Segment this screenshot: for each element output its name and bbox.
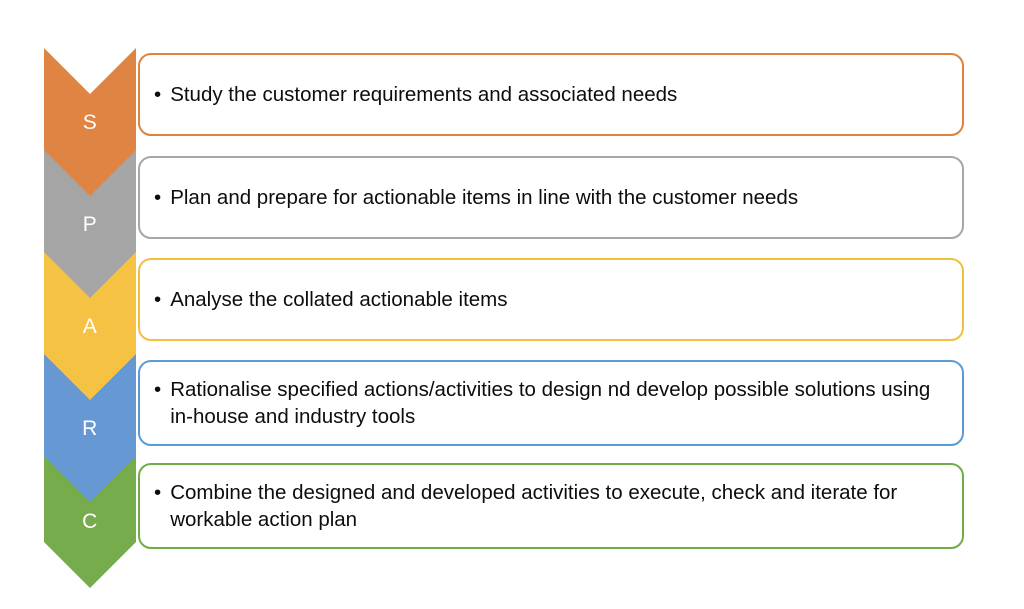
step-description: Rationalise specified actions/activities… [170,376,948,430]
step-text-box[interactable]: •Study the customer requirements and ass… [138,53,964,136]
chevron-c[interactable] [44,456,136,588]
bullet-icon: • [154,479,161,506]
chevron-shape [44,456,136,588]
step-description: Plan and prepare for actionable items in… [170,184,948,211]
step-text-box[interactable]: •Analyse the collated actionable items [138,258,964,341]
bullet-line: •Study the customer requirements and ass… [154,81,948,108]
step-description: Study the customer requirements and asso… [170,81,948,108]
bullet-icon: • [154,286,161,313]
process-diagram: S•Study the customer requirements and as… [0,0,1024,609]
step-text-box[interactable]: •Rationalise specified actions/activitie… [138,360,964,446]
bullet-line: •Plan and prepare for actionable items i… [154,184,948,211]
bullet-line: •Analyse the collated actionable items [154,286,948,313]
step-description: Analyse the collated actionable items [170,286,948,313]
step-description: Combine the designed and developed activ… [170,479,948,533]
bullet-line: •Rationalise specified actions/activitie… [154,376,948,430]
step-text-box[interactable]: •Combine the designed and developed acti… [138,463,964,549]
bullet-icon: • [154,81,161,108]
bullet-line: •Combine the designed and developed acti… [154,479,948,533]
bullet-icon: • [154,184,161,211]
bullet-icon: • [154,376,161,403]
step-text-box[interactable]: •Plan and prepare for actionable items i… [138,156,964,239]
